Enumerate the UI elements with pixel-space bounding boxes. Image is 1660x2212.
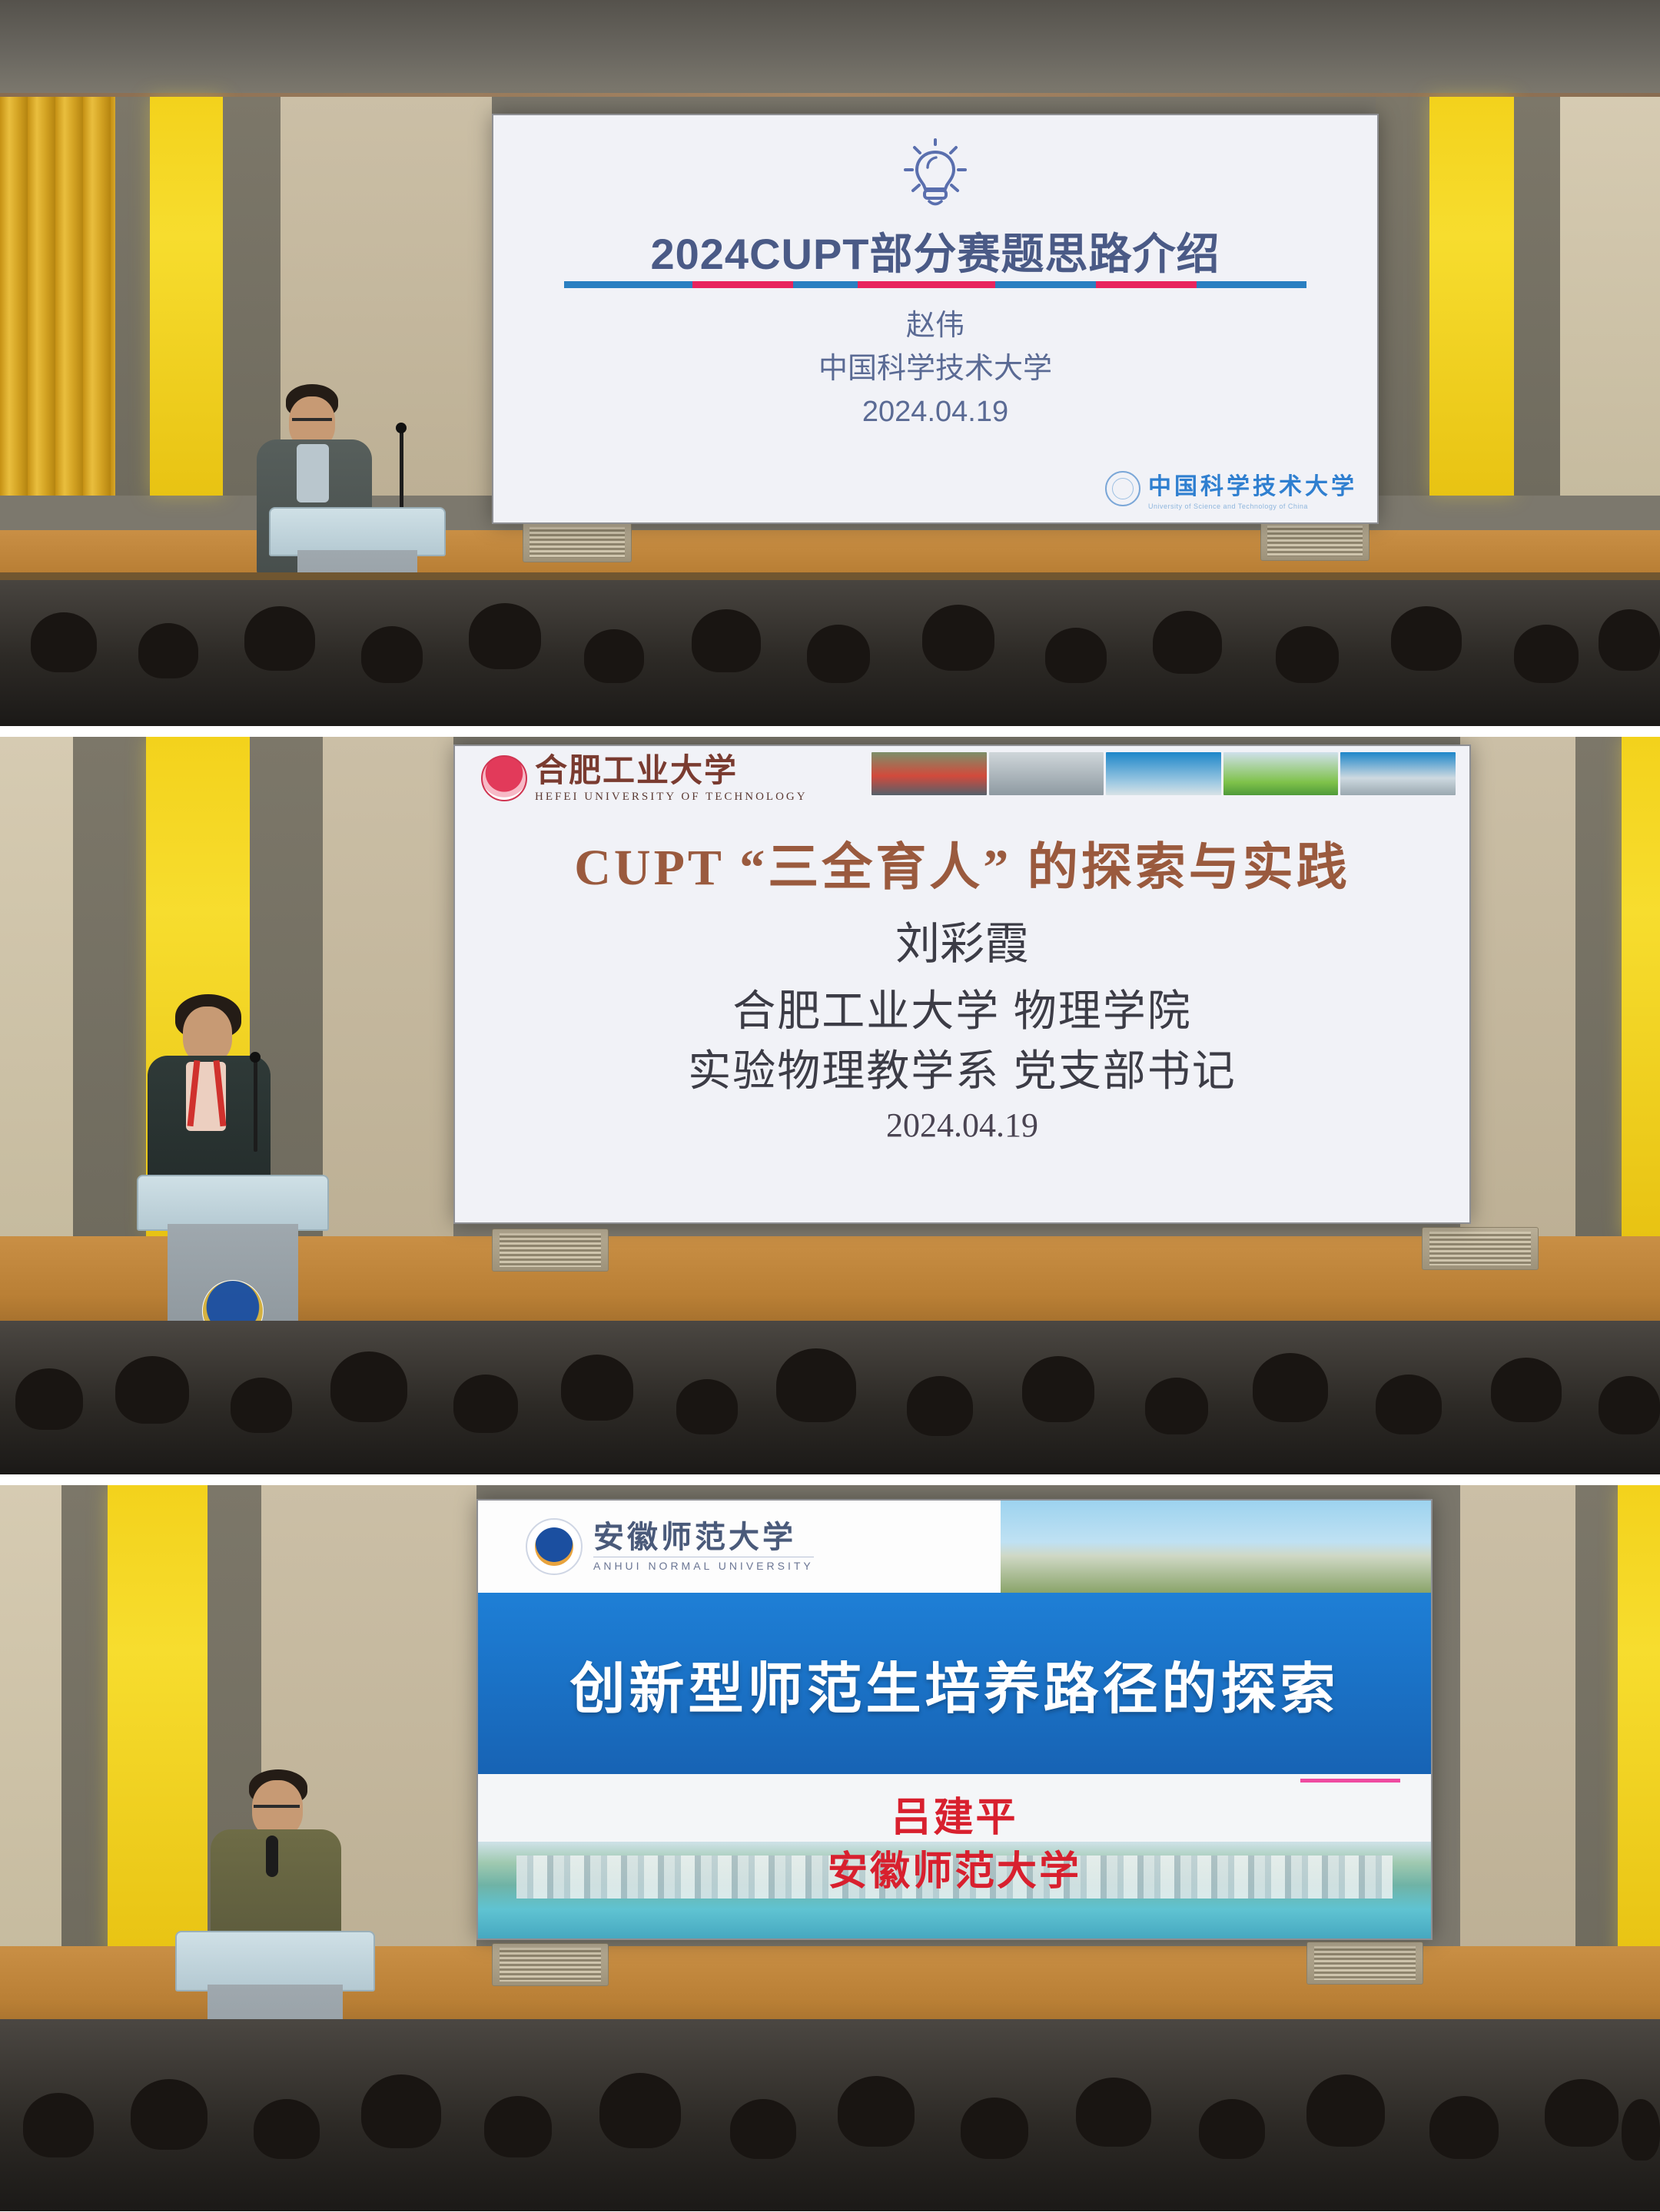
ustc-seal-icon (1105, 471, 1140, 506)
wall-panel (1575, 737, 1622, 1236)
stage-curtain (0, 97, 115, 496)
ustc-logo-en: University of Science and Technology of … (1148, 502, 1357, 510)
slide3-lower-area: 吕建平 安徽师范大学 (478, 1774, 1431, 1938)
panel-ustc-presentation: 2024CUPT部分赛题思路介绍 赵伟 中国科学技术大学 2024.04.19 … (0, 0, 1660, 726)
slide1-divider-rule (564, 281, 1306, 288)
wall-panel (1575, 1485, 1618, 1958)
air-vent (1306, 1942, 1423, 1985)
slide2-line1: 合肥工业大学 物理学院 (455, 977, 1469, 1039)
slide1-affiliation: 中国科学技术大学 (493, 347, 1377, 390)
audience-1 (0, 572, 1660, 726)
audience-2 (0, 1321, 1660, 1474)
wall-panel (323, 737, 453, 1236)
microphone-stand-2 (254, 1060, 257, 1152)
glasses-icon (254, 1805, 300, 1812)
wall-panel (1560, 97, 1660, 496)
microphone-head-2 (250, 1052, 261, 1063)
wall-panel (1514, 97, 1560, 496)
wall-panel-yellow (1618, 1485, 1660, 1958)
campus-photo-strip (871, 752, 1456, 795)
ceiling (0, 0, 1660, 98)
slide3-presenter: 吕建平 (478, 1785, 1431, 1842)
stage-edge (0, 572, 1660, 580)
ahnu-logo-zh: 安徽师范大学 (593, 1522, 814, 1553)
handheld-microphone (266, 1836, 278, 1877)
wall-panel (0, 1485, 61, 1958)
wall-panel (1460, 1485, 1575, 1958)
podium-top (175, 1931, 375, 1991)
speaker-shirt (297, 444, 329, 502)
ahnu-logo-en: ANHUI NORMAL UNIVERSITY (593, 1557, 814, 1572)
wall-panel (115, 97, 150, 496)
air-vent (492, 1943, 609, 1986)
wall-panel (1376, 97, 1429, 496)
pink-accent-bar (1300, 1779, 1400, 1783)
slide2-line2: 实验物理教学系 党支部书记 (455, 1036, 1469, 1099)
slide1-title: 2024CUPT部分赛题思路介绍 (493, 220, 1377, 282)
presentation-collage: 2024CUPT部分赛题思路介绍 赵伟 中国科学技术大学 2024.04.19 … (0, 0, 1660, 2212)
ahnu-seal-icon (526, 1518, 583, 1575)
slide3-affiliation: 安徽师范大学 (478, 1839, 1431, 1896)
wall-panel-yellow (150, 97, 223, 496)
glasses-icon (292, 418, 332, 426)
air-vent (1260, 521, 1369, 561)
wall-panel-yellow (1622, 737, 1660, 1236)
slide1-presenter: 赵伟 (493, 304, 1377, 347)
ustc-logo-zh: 中国科学技术大学 (1148, 467, 1357, 501)
projection-screen-3: 安徽师范大学 ANHUI NORMAL UNIVERSITY 创新型师范生培养路… (476, 1499, 1433, 1940)
panel-hfut-presentation: 合肥工业大学 HEFEI UNIVERSITY OF TECHNOLOGY CU… (0, 737, 1660, 1474)
hfut-logo-en: HEFEI UNIVERSITY OF TECHNOLOGY (535, 791, 808, 804)
slide2-presenter: 刘彩霞 (455, 907, 1469, 972)
podium-top (269, 507, 446, 556)
audience-3 (0, 2019, 1660, 2211)
lightbulb-icon (902, 137, 968, 211)
microphone-head-1 (396, 423, 407, 433)
projection-screen-2: 合肥工业大学 HEFEI UNIVERSITY OF TECHNOLOGY CU… (453, 745, 1471, 1224)
ahnu-logo: 安徽师范大学 ANHUI NORMAL UNIVERSITY (478, 1518, 814, 1575)
slide2-header: 合肥工业大学 HEFEI UNIVERSITY OF TECHNOLOGY (455, 746, 1469, 812)
wall-panel-yellow (1429, 97, 1514, 496)
hfut-seal-icon (481, 755, 527, 801)
slide1-date: 2024.04.19 (493, 390, 1377, 433)
slide3-header: 安徽师范大学 ANHUI NORMAL UNIVERSITY (478, 1501, 1431, 1593)
wall-panel (0, 737, 73, 1236)
podium-top (137, 1175, 329, 1231)
slide1-subtitle-block: 赵伟 中国科学技术大学 2024.04.19 (493, 304, 1377, 434)
slide3-title-band: 创新型师范生培养路径的探索 (478, 1593, 1431, 1774)
ustc-logo: 中国科学技术大学 University of Science and Techn… (1105, 467, 1357, 510)
hfut-logo: 合肥工业大学 HEFEI UNIVERSITY OF TECHNOLOGY (455, 755, 808, 804)
speaker-head (183, 1007, 232, 1063)
wall-panel (1460, 737, 1575, 1236)
air-vent (523, 522, 632, 562)
slide3-title: 创新型师范生培养路径的探索 (569, 1643, 1339, 1724)
projection-screen-1: 2024CUPT部分赛题思路介绍 赵伟 中国科学技术大学 2024.04.19 … (492, 114, 1379, 524)
slide2-date: 2024.04.19 (455, 1106, 1469, 1145)
slide2-title: CUPT “三全育人” 的探索与实践 (455, 826, 1469, 900)
campus-header-photo (1001, 1501, 1431, 1593)
hfut-logo-zh: 合肥工业大学 (535, 755, 808, 788)
air-vent (492, 1229, 609, 1272)
panel-ahnu-presentation: 安徽师范大学 ANHUI NORMAL UNIVERSITY 创新型师范生培养路… (0, 1485, 1660, 2211)
wall-panel (61, 1485, 108, 1958)
air-vent (1422, 1227, 1539, 1270)
